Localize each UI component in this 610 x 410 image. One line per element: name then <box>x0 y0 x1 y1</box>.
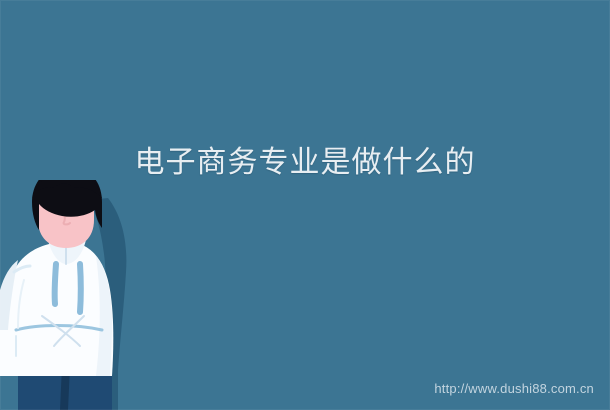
watermark-url: http://www.dushi88.com.cn <box>434 381 594 397</box>
poster-canvas: 电子商务专业是做什么的 http://www.dushi88.com.cn <box>0 0 610 410</box>
page-title: 电子商务专业是做什么的 <box>0 142 610 184</box>
person-illustration <box>0 180 150 410</box>
